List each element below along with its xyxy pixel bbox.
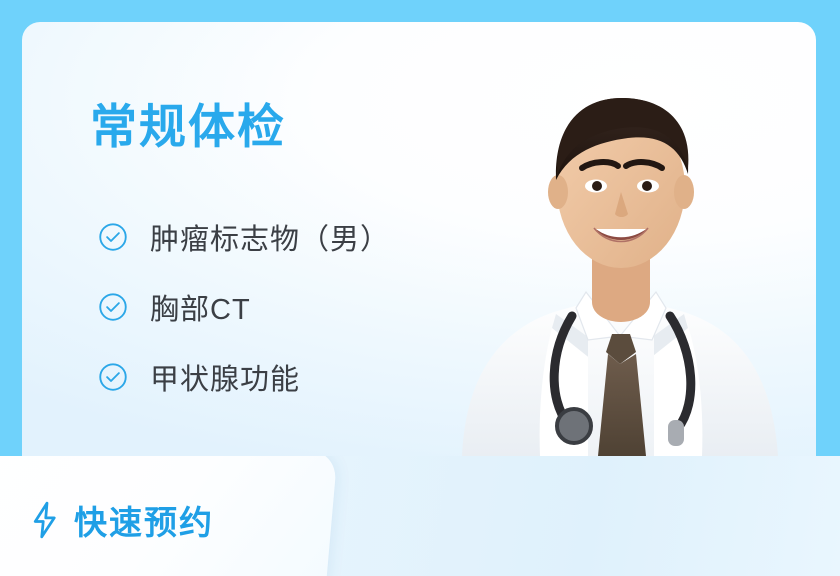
page-title: 常规体检 [90, 100, 286, 154]
check-circle-icon [98, 292, 128, 322]
check-circle-icon [98, 222, 128, 252]
check-circle-icon [98, 362, 128, 392]
list-item: 肿瘤标志物（男） [98, 202, 390, 272]
doctor-portrait [422, 22, 816, 456]
feature-label: 胸部CT [150, 286, 251, 328]
list-item: 甲状腺功能 [98, 342, 390, 412]
quick-booking-label: 快速预约 [74, 496, 214, 544]
feature-list: 肿瘤标志物（男） 胸部CT 甲状腺功能 [98, 202, 390, 412]
list-item: 胸部CT [98, 272, 390, 342]
quick-booking-content[interactable]: 快速预约 [30, 496, 214, 544]
feature-label: 甲状腺功能 [150, 356, 300, 398]
lightning-bolt-icon [30, 501, 60, 539]
feature-label: 肿瘤标志物（男） [150, 216, 390, 258]
promo-card: 常规体检 肿瘤标志物（男） 胸部CT 甲状腺功能 [22, 22, 816, 456]
bottom-bar: 快速预约 以筛查常见病多发病为主 [0, 456, 840, 576]
